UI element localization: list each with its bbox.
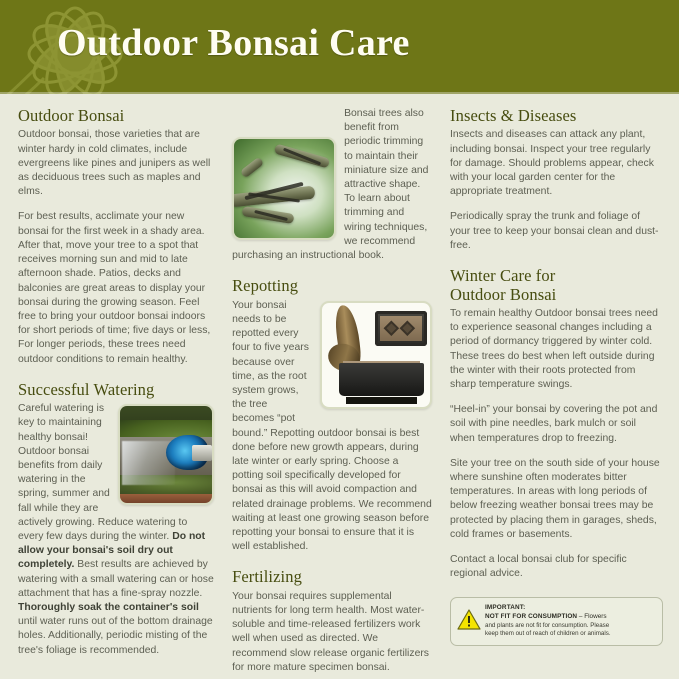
paragraph-winter-2: “Heel-in” your bonsai by covering the po…	[450, 403, 661, 446]
watering-text-3: until water runs out of the bottom drain…	[18, 616, 213, 655]
paragraph-outdoor-bonsai-1: Outdoor bonsai, those varieties that are…	[18, 128, 214, 199]
warning-wrapper: IMPORTANT: NOT FIT FOR CONSUMPTION – Flo…	[450, 597, 661, 645]
heading-insects-diseases: Insects & Diseases	[450, 107, 661, 125]
bonsai-pot-photo	[320, 301, 432, 409]
heading-repotting: Repotting	[232, 277, 432, 295]
page-title: Outdoor Bonsai Care	[57, 21, 410, 65]
heading-outdoor-bonsai: Outdoor Bonsai	[18, 107, 214, 125]
paragraph-fertilizing: Your bonsai requires supplemental nutrie…	[232, 590, 432, 675]
heading-fertilizing: Fertilizing	[232, 568, 432, 586]
paragraph-winter-3: Site your tree on the south side of your…	[450, 457, 661, 542]
warning-body-line2: keep them out of reach of children or an…	[485, 630, 655, 639]
warning-body-line1: and plants are not fit for consumption. …	[485, 622, 655, 631]
paragraph-winter-1: To remain healthy Outdoor bonsai trees n…	[450, 307, 661, 392]
heading-successful-watering: Successful Watering	[18, 381, 214, 399]
warning-box: IMPORTANT: NOT FIT FOR CONSUMPTION – Flo…	[450, 597, 663, 645]
left-column: Outdoor Bonsai Outdoor bonsai, those var…	[8, 107, 226, 679]
page-header: Outdoor Bonsai Care	[0, 0, 679, 94]
watering-bold-2: Thoroughly soak the container's soil	[18, 602, 199, 613]
warning-headline: NOT FIT FOR CONSUMPTION – Flowers	[485, 613, 655, 622]
content-columns: Outdoor Bonsai Outdoor bonsai, those var…	[0, 94, 679, 679]
wired-branch-photo	[232, 137, 336, 240]
heading-winter-care-line2: Outdoor Bonsai	[450, 285, 556, 304]
paragraph-outdoor-bonsai-2: For best results, acclimate your new bon…	[18, 210, 214, 366]
watering-nozzle-photo	[118, 404, 214, 505]
warning-headline-rest: – Flowers	[577, 613, 606, 620]
right-column: Insects & Diseases Insects and diseases …	[444, 107, 671, 679]
paragraph-winter-4: Contact a local bonsai club for specific…	[450, 553, 661, 581]
warning-triangle-icon	[457, 609, 481, 630]
warning-headline-strong: NOT FIT FOR CONSUMPTION	[485, 613, 577, 620]
heading-winter-care: Winter Care forOutdoor Bonsai	[450, 267, 661, 304]
poster-page: Outdoor Bonsai Care Outdoor Bonsai Outdo…	[0, 0, 679, 679]
paragraph-insects-1: Insects and diseases can attack any plan…	[450, 128, 661, 199]
warning-label-important: IMPORTANT:	[485, 604, 655, 613]
middle-column: Bonsai trees also benefit from periodic …	[226, 107, 444, 679]
heading-winter-care-line1: Winter Care for	[450, 266, 555, 285]
paragraph-insects-2: Periodically spray the trunk and foliage…	[450, 210, 661, 253]
